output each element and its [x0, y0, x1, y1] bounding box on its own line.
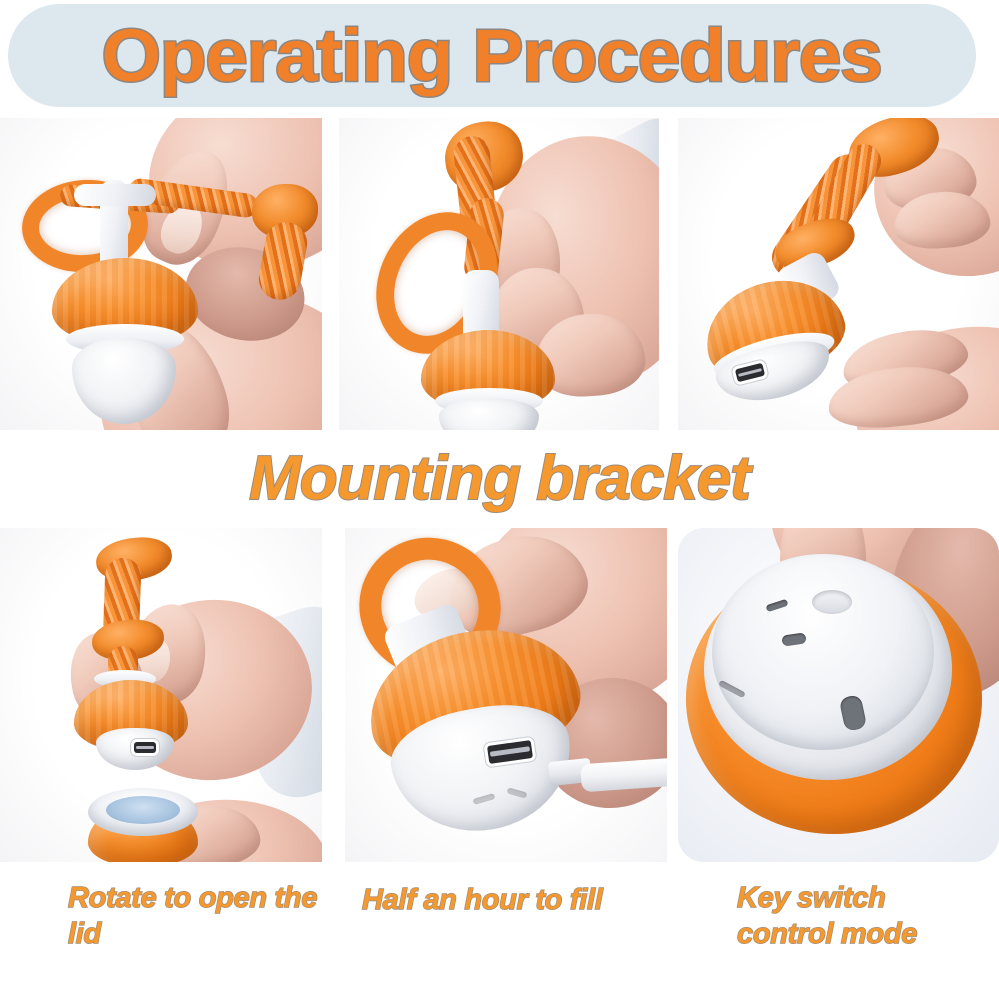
page-title: Operating Procedures [102, 19, 882, 93]
panel-1-scene [0, 118, 322, 430]
photo-panel-step-5 [345, 528, 667, 862]
usb-cable [580, 758, 667, 793]
caption-rotate-to-open-the-lid: Rotate to open the lid [68, 880, 338, 953]
photo-panel-step-3 [678, 118, 999, 430]
device-cross-arm [74, 184, 156, 206]
device-underside-plate [712, 554, 934, 750]
caption-key-switch-control-mode: Key switch control mode [737, 880, 987, 953]
panel-4-scene [0, 528, 322, 862]
lid-interior-blue [106, 796, 180, 824]
usb-port [134, 742, 156, 753]
panel-3-scene [678, 118, 999, 430]
caption-half-an-hour-to-fill: Half an hour to fill [362, 882, 662, 918]
photo-panel-step-1 [0, 118, 322, 430]
device-white-base [439, 398, 539, 430]
photo-panel-step-6 [678, 528, 999, 862]
usb-port-inner [738, 368, 762, 377]
panel-6-scene [678, 528, 999, 862]
mounting-bracket-heading: Mounting bracket [0, 440, 999, 518]
photo-panel-step-4 [0, 528, 322, 862]
power-button [812, 590, 852, 614]
panel-5-scene [345, 528, 667, 862]
usb-port-inner [490, 747, 530, 757]
panel-2-scene [339, 118, 659, 430]
photo-panel-step-2 [339, 118, 659, 430]
title-banner: Operating Procedures [8, 4, 976, 107]
usb-port-inner [136, 746, 154, 749]
mounting-bracket-heading-text: Mounting bracket [249, 448, 750, 510]
